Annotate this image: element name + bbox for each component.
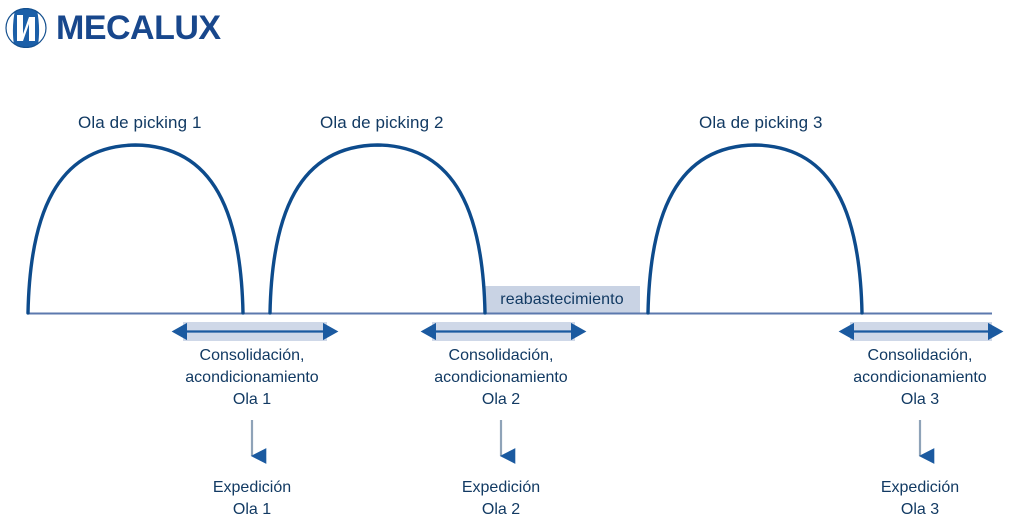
- picking-wave-curve-2: [270, 145, 485, 313]
- dispatch-label-3: Expedición Ola 3: [840, 477, 1000, 521]
- diagram-canvas: MECALUX: [0, 0, 1024, 527]
- diagram-graphics: [0, 0, 1024, 527]
- consolidation-label-3-line2: acondicionamiento: [823, 367, 1017, 389]
- dispatch-label-2-line2: Ola 2: [421, 499, 581, 521]
- dispatch-label-1: Expedición Ola 1: [172, 477, 332, 521]
- dispatch-label-1-line2: Ola 1: [172, 499, 332, 521]
- wave-title-3: Ola de picking 3: [699, 113, 823, 133]
- picking-wave-curve-1: [28, 145, 243, 313]
- picking-wave-curve-3: [648, 145, 862, 313]
- dispatch-label-3-line1: Expedición: [840, 477, 1000, 499]
- consolidation-label-2: Consolidación, acondicionamiento Ola 2: [404, 345, 598, 411]
- consolidation-label-1-line1: Consolidación,: [155, 345, 349, 367]
- dispatch-label-3-line2: Ola 3: [840, 499, 1000, 521]
- consolidation-label-2-line1: Consolidación,: [404, 345, 598, 367]
- wave-title-2: Ola de picking 2: [320, 113, 444, 133]
- dispatch-label-2-line1: Expedición: [421, 477, 581, 499]
- wave-title-1: Ola de picking 1: [78, 113, 202, 133]
- consolidation-label-3-line1: Consolidación,: [823, 345, 1017, 367]
- consolidation-label-3: Consolidación, acondicionamiento Ola 3: [823, 345, 1017, 411]
- dispatch-label-1-line1: Expedición: [172, 477, 332, 499]
- dispatch-label-2: Expedición Ola 2: [421, 477, 581, 521]
- consolidation-label-1-line3: Ola 1: [155, 389, 349, 411]
- consolidation-label-3-line3: Ola 3: [823, 389, 1017, 411]
- consolidation-label-2-line2: acondicionamiento: [404, 367, 598, 389]
- consolidation-label-2-line3: Ola 2: [404, 389, 598, 411]
- replenishment-label: reabastecimiento: [484, 286, 640, 313]
- consolidation-label-1: Consolidación, acondicionamiento Ola 1: [155, 345, 349, 411]
- consolidation-label-1-line2: acondicionamiento: [155, 367, 349, 389]
